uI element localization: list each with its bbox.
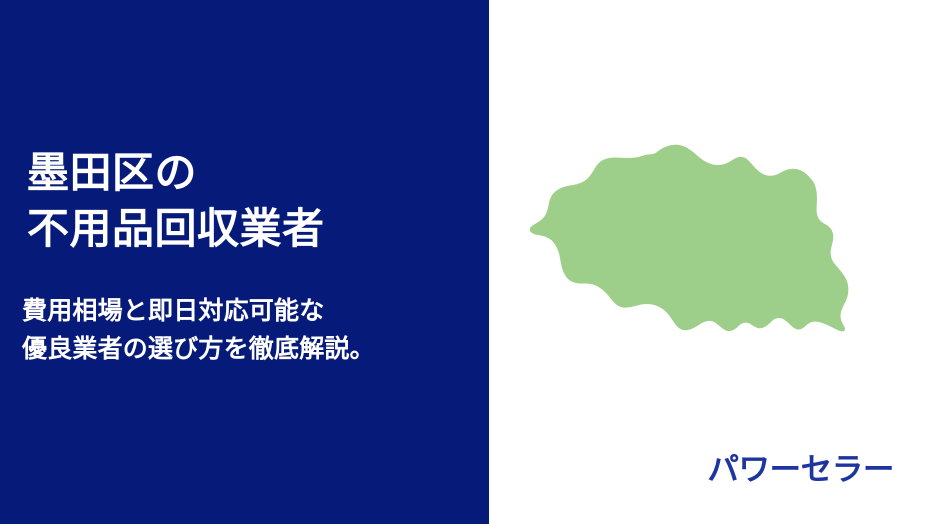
subheadline-line-1: 費用相場と即日対応可能な (22, 292, 472, 330)
headline-line-2: 不用品回収業者 (27, 201, 467, 257)
subheadline-block: 費用相場と即日対応可能な 優良業者の選び方を徹底解説。 (22, 292, 472, 368)
headline-line-1: 墨田区の (27, 145, 467, 201)
sumida-ward-map-icon (529, 130, 919, 350)
headline-block: 墨田区の 不用品回収業者 (27, 145, 467, 257)
sumida-ward-map-path (530, 145, 849, 332)
brand-logo: パワーセラー (694, 448, 894, 492)
right-white-panel: パワーセラー (489, 0, 928, 524)
subheadline-line-2: 優良業者の選び方を徹底解説。 (22, 330, 472, 368)
sumida-ward-map-svg (529, 130, 919, 350)
hero-banner: 墨田区の 不用品回収業者 費用相場と即日対応可能な 優良業者の選び方を徹底解説。… (0, 0, 928, 524)
left-navy-panel: 墨田区の 不用品回収業者 費用相場と即日対応可能な 優良業者の選び方を徹底解説。 (0, 0, 489, 524)
brand-logo-text: パワーセラー (707, 453, 894, 487)
